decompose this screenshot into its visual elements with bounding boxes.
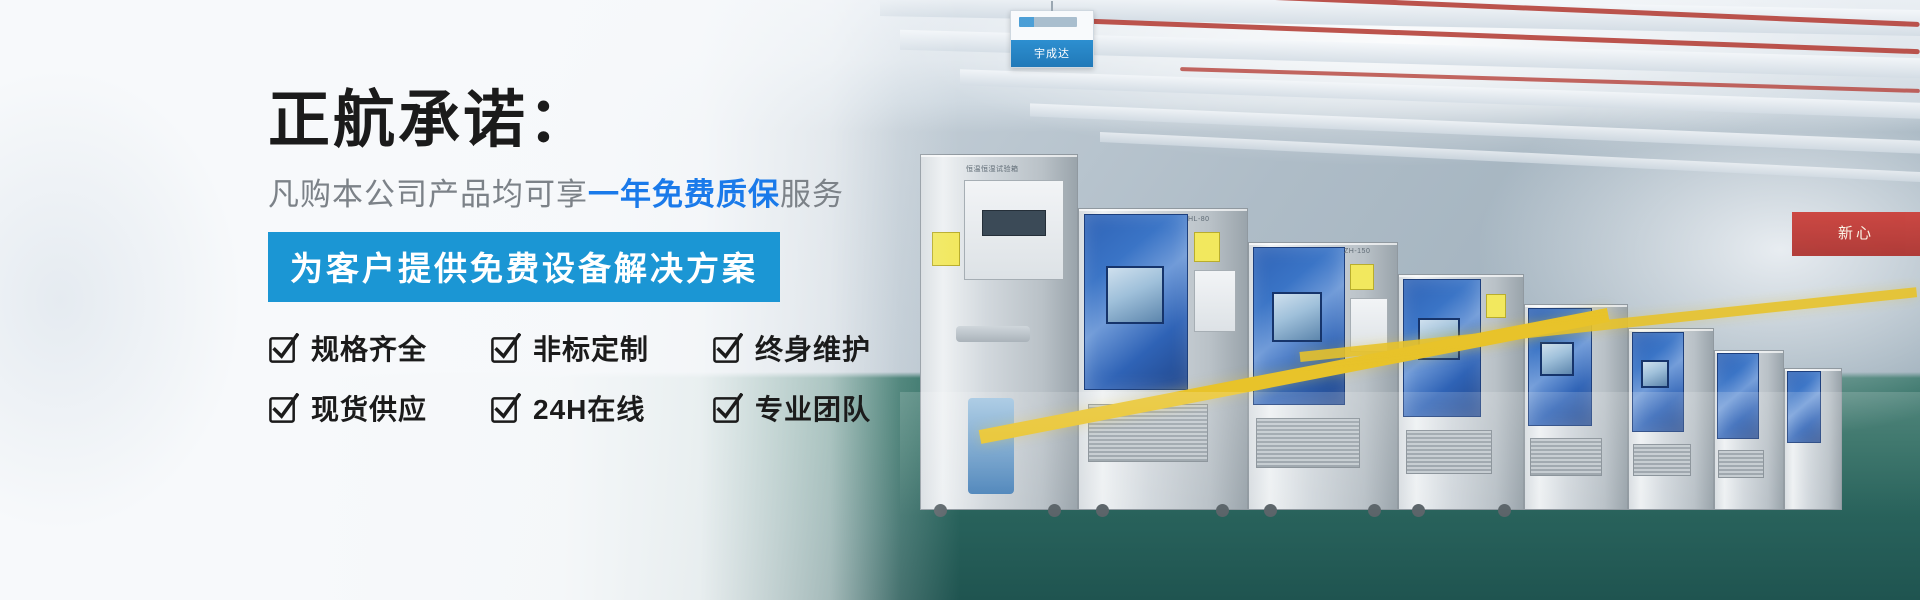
checkbox-checked-icon [490,393,521,424]
feature-list: 规格齐全 非标定制 终身维护 [268,328,948,428]
checkbox-checked-icon [268,393,299,424]
feature-label: 24H在线 [533,388,645,428]
checkbox-checked-icon [712,393,743,424]
feature-label: 规格齐全 [311,328,427,368]
page-title: 正航承诺： [268,88,948,153]
feature-row: 规格齐全 非标定制 终身维护 [268,328,948,368]
feature-item-stock: 现货供应 [268,388,490,428]
feature-label: 终身维护 [755,328,871,368]
feature-label: 现货供应 [311,388,427,428]
feature-item-team: 专业团队 [712,388,934,428]
promise-highlight: 一年免费质保 [588,177,780,212]
feature-item-custom: 非标定制 [490,328,712,368]
promise-suffix: 服务 [780,177,844,212]
checkbox-checked-icon [268,333,299,364]
solution-ribbon: 为客户提供免费设备解决方案 [268,232,780,302]
feature-item-online: 24H在线 [490,388,712,428]
promise-subline: 凡购本公司产品均可享一年免费质保服务 [268,169,948,214]
feature-row: 现货供应 24H在线 专业团队 [268,388,948,428]
feature-label: 专业团队 [755,388,871,428]
promise-prefix: 凡购本公司产品均可享 [268,177,588,212]
feature-label: 非标定制 [533,328,649,368]
feature-item-maintenance: 终身维护 [712,328,934,368]
feature-item-specs: 规格齐全 [268,328,490,368]
checkbox-checked-icon [490,333,521,364]
checkbox-checked-icon [712,333,743,364]
promo-banner: 宇成达 新心 恒温恒湿试验箱 [0,0,1920,600]
banner-content: 正航承诺： 凡购本公司产品均可享一年免费质保服务 为客户提供免费设备解决方案 规… [268,88,948,448]
